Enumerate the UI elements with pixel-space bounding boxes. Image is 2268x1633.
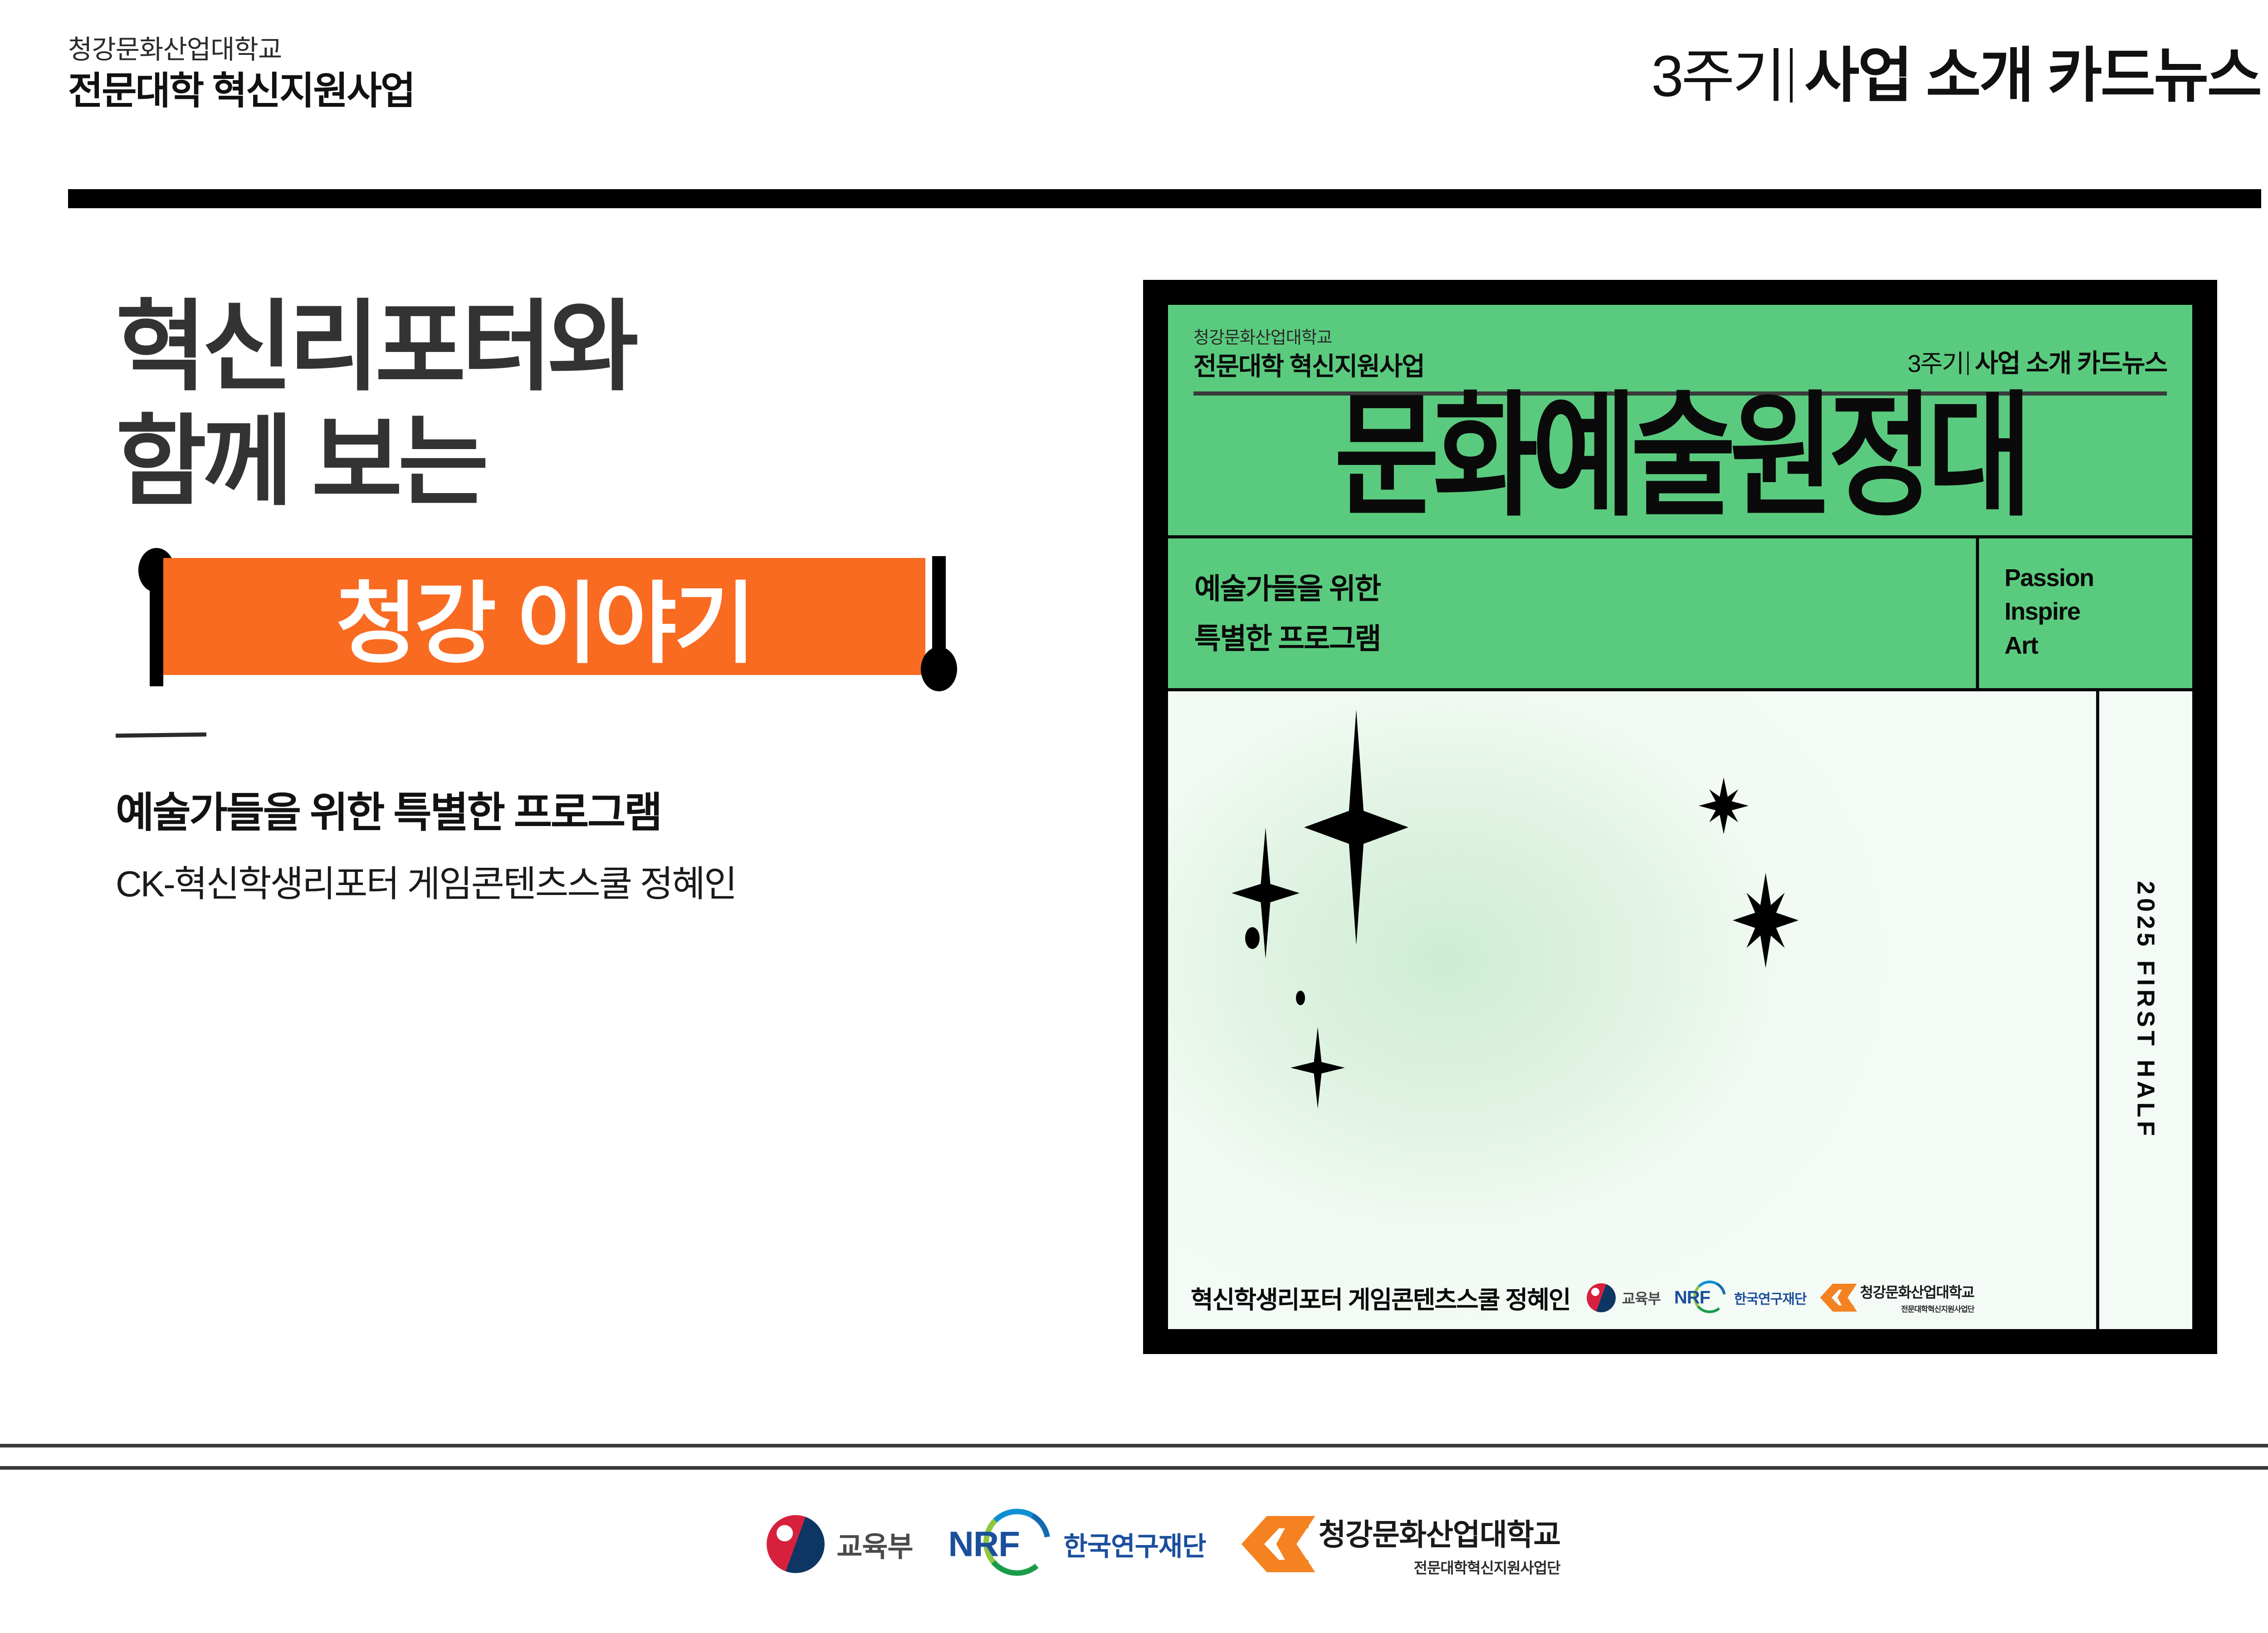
footer-logo-nrf-label: 한국연구재단	[1063, 1525, 1206, 1563]
card-cycle-label: 3주기	[1907, 343, 1963, 379]
card-logo-strip: 교육부 NRF 한국연구재단	[1587, 1281, 1974, 1314]
taegeuk-icon	[1587, 1283, 1616, 1312]
footer-logo-ck-university: 청강문화산업대학교 전문대학혁신지원사업단	[1242, 1511, 1560, 1578]
footer-logo-ministry-of-education: 교육부	[767, 1515, 913, 1573]
card-header-brand: 청강문화산업대학교 전문대학 혁신지원사업	[1193, 328, 1424, 381]
card-band-line-2: 특별한 프로그램	[1194, 614, 1976, 664]
card-band-line-1: 예술가들을 위한	[1194, 564, 1976, 614]
ck-mark-icon	[1820, 1284, 1854, 1312]
card-preview: 청강문화산업대학교 전문대학 혁신지원사업 3주기 사업 소개 카드뉴스 문화예…	[1168, 305, 2192, 1329]
card-keyword-inspire: Inspire	[2004, 595, 2192, 629]
card-program-name: 전문대학 혁신지원사업	[1193, 351, 1424, 381]
footer-logo-ck-textblock: 청강문화산업대학교 전문대학혁신지원사업단	[1319, 1511, 1560, 1578]
card-caption-row: 혁신학생리포터 게임콘텐츠스쿨 정혜인 교육부	[1191, 1280, 2078, 1315]
footer-logo-ck-label: 청강문화산업대학교	[1319, 1511, 1560, 1554]
footer-nrf-mark-icon: NRF	[948, 1515, 1051, 1573]
logo-moe-label: 교육부	[1622, 1287, 1661, 1308]
sparkle-eight-point-top-icon	[1699, 777, 1749, 834]
card-preview-frame: 청강문화산업대학교 전문대학 혁신지원사업 3주기 사업 소개 카드뉴스 문화예…	[1143, 280, 2217, 1354]
logo-ck-university: 청강문화산업대학교 전문대학혁신지원사업단	[1820, 1281, 1974, 1314]
sparkle-medium-icon	[1232, 827, 1300, 959]
logo-ck-label: 청강문화산업대학교	[1860, 1281, 1974, 1302]
sparkle-small-bottom-icon	[1290, 1027, 1345, 1109]
card-title-divider-rule	[1168, 535, 2192, 538]
headline-line-2: 함께 보는	[116, 405, 1091, 520]
credit-text: CK-혁신학생리포터 게임콘텐츠스쿨 정혜인	[116, 855, 1091, 907]
footer-logo-ck-sublabel: 전문대학혁신지원사업단	[1319, 1556, 1560, 1578]
card-visual-vertical-divider	[2096, 691, 2099, 1329]
header-program-name: 전문대학 혁신지원사업	[68, 69, 414, 113]
header-university-name: 청강문화산업대학교	[68, 35, 414, 64]
card-university-name: 청강문화산업대학교	[1193, 328, 1424, 348]
subtitle-text: 예술가들을 위한 특별한 프로그램	[116, 779, 1091, 839]
highlight-banner: 청강 이야기	[116, 548, 950, 698]
card-middle-band: 예술가들을 위한 특별한 프로그램 Passion Inspire Art	[1168, 538, 2192, 688]
pin-dot-bottom-right-icon	[921, 647, 957, 691]
header-divider-rule	[68, 189, 2261, 208]
dot-small-icon	[1296, 991, 1305, 1005]
card-keyword-passion: Passion	[2004, 561, 2192, 595]
logo-ck-sublabel: 전문대학혁신지원사업단	[1860, 1303, 1974, 1314]
nrf-mark-icon: NRF	[1674, 1283, 1728, 1312]
footer-logo-nrf-abbr: NRF	[948, 1524, 1019, 1565]
left-content-column: 혁신리포터와 함께 보는 청강 이야기 예술가들을 위한 특별한 프로그램 CK…	[116, 290, 1091, 907]
footer-divider-rule-top	[0, 1444, 2268, 1447]
card-visual-section: 혁신학생리포터 게임콘텐츠스쿨 정혜인 교육부	[1168, 691, 2192, 1329]
logo-nrf-abbr: NRF	[1674, 1287, 1710, 1308]
pin-bar-left-icon	[150, 575, 163, 686]
vertical-divider-icon	[1790, 48, 1793, 103]
footer-taegeuk-icon	[767, 1515, 825, 1573]
card-vertical-divider-icon	[1967, 352, 1969, 375]
card-visual-panel: 혁신학생리포터 게임콘텐츠스쿨 정혜인 교육부	[1168, 691, 2096, 1329]
logo-nrf: NRF 한국연구재단	[1674, 1283, 1807, 1312]
highlight-text: 청강 이야기	[163, 558, 925, 675]
header-brand: 청강문화산업대학교 전문대학 혁신지원사업	[68, 35, 414, 112]
footer-logo-nrf: NRF 한국연구재단	[948, 1515, 1206, 1573]
card-year-strip: 2025 FIRST HALF	[2099, 691, 2192, 1329]
card-keyword-art: Art	[2004, 629, 2192, 663]
headline-line-1: 혁신리포터와	[116, 290, 1091, 405]
header-series-label: 3주기 사업 소개 카드뉴스	[1651, 27, 2260, 114]
card-band-english-text: Passion Inspire Art	[1979, 538, 2192, 688]
card-band-vertical-divider	[1976, 538, 1979, 688]
card-cardnews-label: 사업 소개 카드뉴스	[1975, 343, 2167, 380]
sparkle-large-icon	[1304, 709, 1408, 945]
dot-large-icon	[1245, 927, 1260, 949]
page-header: 청강문화산업대학교 전문대학 혁신지원사업 3주기 사업 소개 카드뉴스	[68, 27, 2261, 209]
card-band-korean-text: 예술가들을 위한 특별한 프로그램	[1168, 538, 1976, 688]
short-divider-rule	[116, 732, 206, 738]
card-year-text: 2025 FIRST HALF	[2132, 881, 2160, 1139]
footer-logo-strip: 교육부 NRF 한국연구재단 청강문화산업대학교 전문대학혁신지원사업단	[0, 1511, 2268, 1578]
logo-ck-textblock: 청강문화산업대학교 전문대학혁신지원사업단	[1860, 1281, 1974, 1314]
footer-logo-moe-label: 교육부	[836, 1524, 913, 1565]
sparkle-eight-point-bottom-icon	[1733, 873, 1799, 968]
header-cycle-label: 3주기	[1651, 29, 1784, 113]
card-header: 청강문화산업대학교 전문대학 혁신지원사업 3주기 사업 소개 카드뉴스	[1168, 305, 2192, 381]
card-main-title: 문화예술원정대	[1168, 384, 2192, 534]
card-series-label: 3주기 사업 소개 카드뉴스	[1907, 343, 2167, 381]
card-band-divider-rule	[1168, 688, 2192, 691]
footer-ck-mark-icon	[1242, 1516, 1309, 1572]
logo-ministry-of-education: 교육부	[1587, 1283, 1661, 1312]
card-caption-text: 혁신학생리포터 게임콘텐츠스쿨 정혜인	[1191, 1280, 1570, 1315]
header-cardnews-label: 사업 소개 카드뉴스	[1804, 27, 2260, 114]
footer-divider-rule-bottom	[0, 1466, 2268, 1470]
logo-nrf-label: 한국연구재단	[1734, 1288, 1807, 1308]
